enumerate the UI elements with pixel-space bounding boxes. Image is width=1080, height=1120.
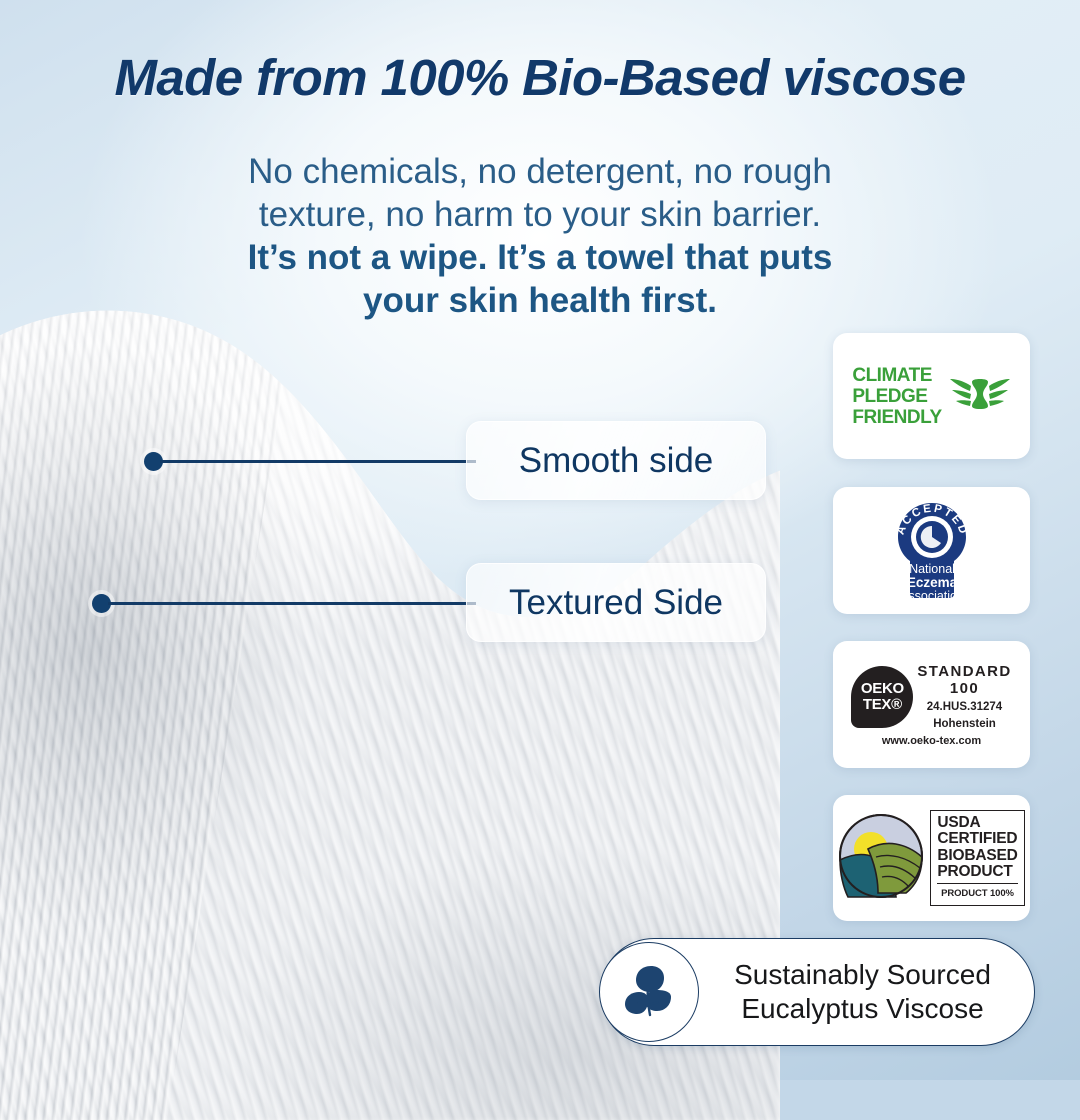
oeko-tex-mark-line-1: OEKO bbox=[861, 681, 904, 697]
usda-product-percent: PRODUCT 100% bbox=[937, 883, 1017, 903]
oeko-tex-logo-row: OEKO TEX® STANDARD 100 24.HUS.31274 Hohe… bbox=[851, 663, 1011, 731]
callout-textured-side-label: Textured Side bbox=[509, 583, 723, 623]
subhead-line-3: It’s not a wipe. It’s a towel that puts bbox=[110, 236, 970, 279]
eczema-seal-logo: ACCEPTED National Eczema Association bbox=[886, 499, 978, 602]
eczema-line-1: National bbox=[909, 562, 955, 576]
callout-smooth-side: Smooth side bbox=[466, 421, 766, 500]
climate-pledge-line-2: PLEDGE bbox=[852, 386, 941, 407]
eucalyptus-icon-circle bbox=[599, 942, 699, 1042]
callout-leader-smooth bbox=[160, 460, 476, 463]
cert-card-national-eczema-association: ACCEPTED National Eczema Association bbox=[833, 487, 1030, 614]
oeko-tex-institute: Hohenstein bbox=[917, 717, 1011, 731]
oeko-tex-drop-mark: OEKO TEX® bbox=[851, 666, 913, 728]
sun-field-circle-icon bbox=[838, 813, 924, 904]
usda-logo: USDA CERTIFIED BIOBASED PRODUCT PRODUCT … bbox=[838, 810, 1024, 907]
callout-smooth-side-label: Smooth side bbox=[519, 441, 714, 481]
cert-card-usda-biobased: USDA CERTIFIED BIOBASED PRODUCT PRODUCT … bbox=[833, 795, 1030, 921]
oeko-tex-standard-label: STANDARD bbox=[917, 663, 1011, 680]
sustainably-sourced-text: Sustainably Sourced Eucalyptus Viscose bbox=[699, 958, 1034, 1026]
subhead-line-4: your skin health first. bbox=[110, 279, 970, 322]
winged-hourglass-icon bbox=[949, 370, 1011, 423]
climate-pledge-line-3: FRIENDLY bbox=[852, 407, 941, 428]
callout-leader-textured bbox=[108, 602, 476, 605]
subhead-line-1: No chemicals, no detergent, no rough bbox=[110, 150, 970, 193]
usda-line-2: CERTIFIED bbox=[937, 831, 1017, 848]
oeko-tex-standard-number: 100 bbox=[917, 680, 1011, 697]
climate-pledge-line-1: CLIMATE bbox=[852, 365, 941, 386]
sustainably-sourced-line-1: Sustainably Sourced bbox=[699, 958, 1026, 992]
usda-line-3: BIOBASED bbox=[937, 848, 1017, 865]
climate-pledge-logo: CLIMATE PLEDGE FRIENDLY bbox=[852, 365, 1010, 428]
usda-line-1: USDA bbox=[937, 815, 1017, 832]
subhead-line-2: texture, no harm to your skin barrier. bbox=[110, 193, 970, 236]
eczema-line-3: Association bbox=[900, 589, 964, 602]
climate-pledge-wordmark: CLIMATE PLEDGE FRIENDLY bbox=[852, 365, 941, 428]
page-subhead: No chemicals, no detergent, no rough tex… bbox=[110, 150, 970, 322]
oeko-tex-url: www.oeko-tex.com bbox=[882, 735, 981, 747]
page-headline: Made from 100% Bio-Based viscose bbox=[0, 48, 1080, 107]
callout-textured-side: Textured Side bbox=[466, 563, 766, 642]
infographic-stage: Made from 100% Bio-Based viscose No chem… bbox=[0, 0, 1080, 1080]
cert-card-climate-pledge-friendly: CLIMATE PLEDGE FRIENDLY bbox=[833, 333, 1030, 459]
oeko-tex-details: STANDARD 100 24.HUS.31274 Hohenstein bbox=[917, 663, 1011, 731]
usda-line-4: PRODUCT bbox=[937, 864, 1017, 881]
sustainably-sourced-badge: Sustainably Sourced Eucalyptus Viscose bbox=[600, 938, 1035, 1046]
usda-wordmark: USDA CERTIFIED BIOBASED PRODUCT PRODUCT … bbox=[930, 810, 1024, 907]
oeko-tex-mark-line-2: TEX® bbox=[863, 697, 902, 713]
cert-card-oeko-tex: OEKO TEX® STANDARD 100 24.HUS.31274 Hohe… bbox=[833, 641, 1030, 768]
eczema-line-2: Eczema bbox=[906, 575, 957, 590]
oeko-tex-cert-number: 24.HUS.31274 bbox=[917, 700, 1011, 714]
sustainably-sourced-line-2: Eucalyptus Viscose bbox=[699, 992, 1026, 1026]
eucalyptus-leaf-icon bbox=[617, 958, 681, 1027]
